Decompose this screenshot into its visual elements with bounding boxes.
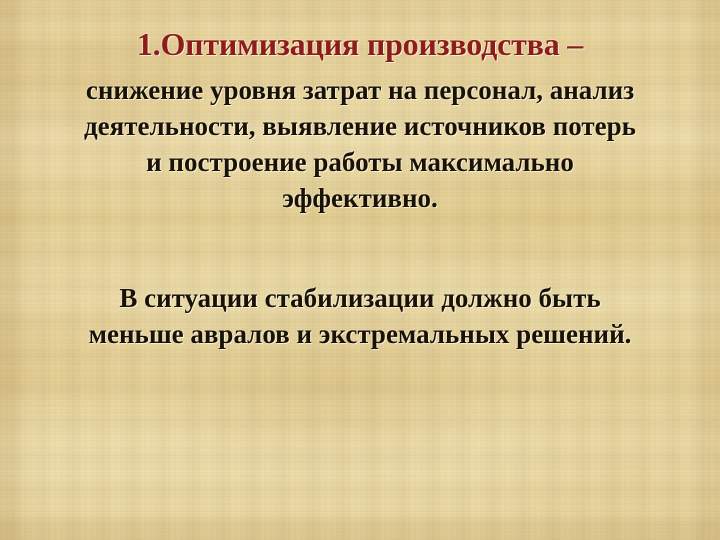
paragraph-line: В ситуации стабилизации должно быть — [18, 280, 702, 316]
paragraph-line: деятельности, выявление источников потер… — [18, 108, 702, 144]
paragraph-line: эффективно. — [18, 180, 702, 216]
paragraph-line: меньше авралов и экстремальных решений. — [18, 316, 702, 352]
presentation-slide: 1.Оптимизация производства – снижение ур… — [0, 0, 720, 540]
paragraph-stabilization-statement: В ситуации стабилизации должно быть мень… — [18, 280, 702, 352]
paragraph-optimization-description: снижение уровня затрат на персонал, анал… — [18, 72, 702, 216]
slide-title: 1.Оптимизация производства – — [18, 0, 702, 64]
paragraph-line: и построение работы максимально — [18, 144, 702, 180]
paragraph-line: снижение уровня затрат на персонал, анал… — [18, 72, 702, 108]
slide-content: 1.Оптимизация производства – снижение ур… — [0, 0, 720, 540]
